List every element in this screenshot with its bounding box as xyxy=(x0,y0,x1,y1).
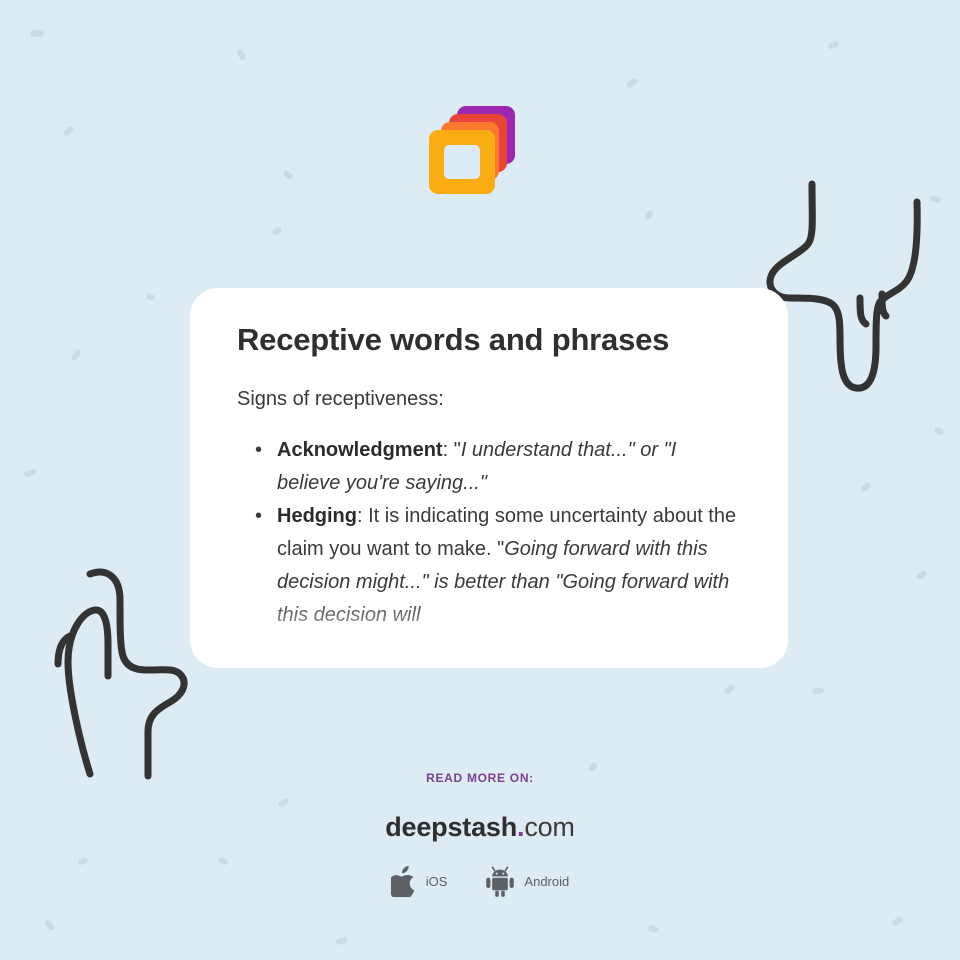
ios-label: iOS xyxy=(426,874,448,889)
logo-cutout xyxy=(444,145,480,179)
confetti-speck xyxy=(335,936,347,945)
card-subtitle: Signs of receptiveness: xyxy=(237,386,742,412)
deepstash-logo xyxy=(429,106,515,194)
ios-store-badge[interactable]: iOS xyxy=(391,866,448,897)
idea-card[interactable]: Receptive words and phrases Signs of rec… xyxy=(190,288,788,668)
confetti-speck xyxy=(62,125,74,137)
card-content: Receptive words and phrases Signs of rec… xyxy=(190,288,788,632)
confetti-speck xyxy=(77,856,89,866)
confetti-speck xyxy=(723,683,735,695)
confetti-speck xyxy=(915,569,927,580)
confetti-speck xyxy=(282,170,294,181)
confetti-speck xyxy=(643,209,654,220)
page-title: Receptive words and phrases xyxy=(237,322,742,358)
bullet-separator: : xyxy=(443,439,454,461)
confetti-speck xyxy=(23,468,36,478)
bullet-term: Hedging xyxy=(277,505,357,527)
confetti-speck xyxy=(647,924,659,934)
confetti-speck xyxy=(859,481,871,493)
confetti-speck xyxy=(271,226,283,236)
pointing-up-hand-illustration xyxy=(28,566,206,782)
read-more-label: READ MORE ON: xyxy=(0,771,960,785)
confetti-speck xyxy=(70,348,82,361)
confetti-speck xyxy=(891,916,904,927)
android-label: Android xyxy=(524,874,569,889)
confetti-speck xyxy=(236,49,246,62)
receptiveness-list: Acknowledgment: "I understand that..." o… xyxy=(237,434,742,632)
bullet-separator: : xyxy=(357,505,368,527)
wordmark-brand: deepstash xyxy=(385,812,517,842)
confetti-speck xyxy=(145,293,156,302)
android-icon xyxy=(485,866,515,897)
apple-icon xyxy=(391,866,417,897)
deepstash-wordmark[interactable]: deepstash.com xyxy=(0,812,960,843)
confetti-speck xyxy=(217,856,229,866)
store-badges: iOS Android xyxy=(0,866,960,897)
bullet-term: Acknowledgment xyxy=(277,439,443,461)
confetti-speck xyxy=(30,30,44,37)
confetti-speck xyxy=(827,40,840,50)
list-item: Acknowledgment: "I understand that..." o… xyxy=(277,434,742,500)
poster-canvas: Receptive words and phrases Signs of rec… xyxy=(0,0,960,960)
confetti-speck xyxy=(44,919,56,931)
confetti-speck xyxy=(277,797,289,809)
confetti-speck xyxy=(625,77,638,89)
wordmark-tld: com xyxy=(524,812,574,842)
bullet-text-italic: I understand that..." or xyxy=(461,439,658,461)
confetti-speck xyxy=(812,688,824,694)
list-item: Hedging: It is indicating some uncertain… xyxy=(277,500,742,632)
bullet-text-normal: " xyxy=(454,439,461,461)
android-store-badge[interactable]: Android xyxy=(485,866,569,897)
confetti-speck xyxy=(933,426,945,436)
